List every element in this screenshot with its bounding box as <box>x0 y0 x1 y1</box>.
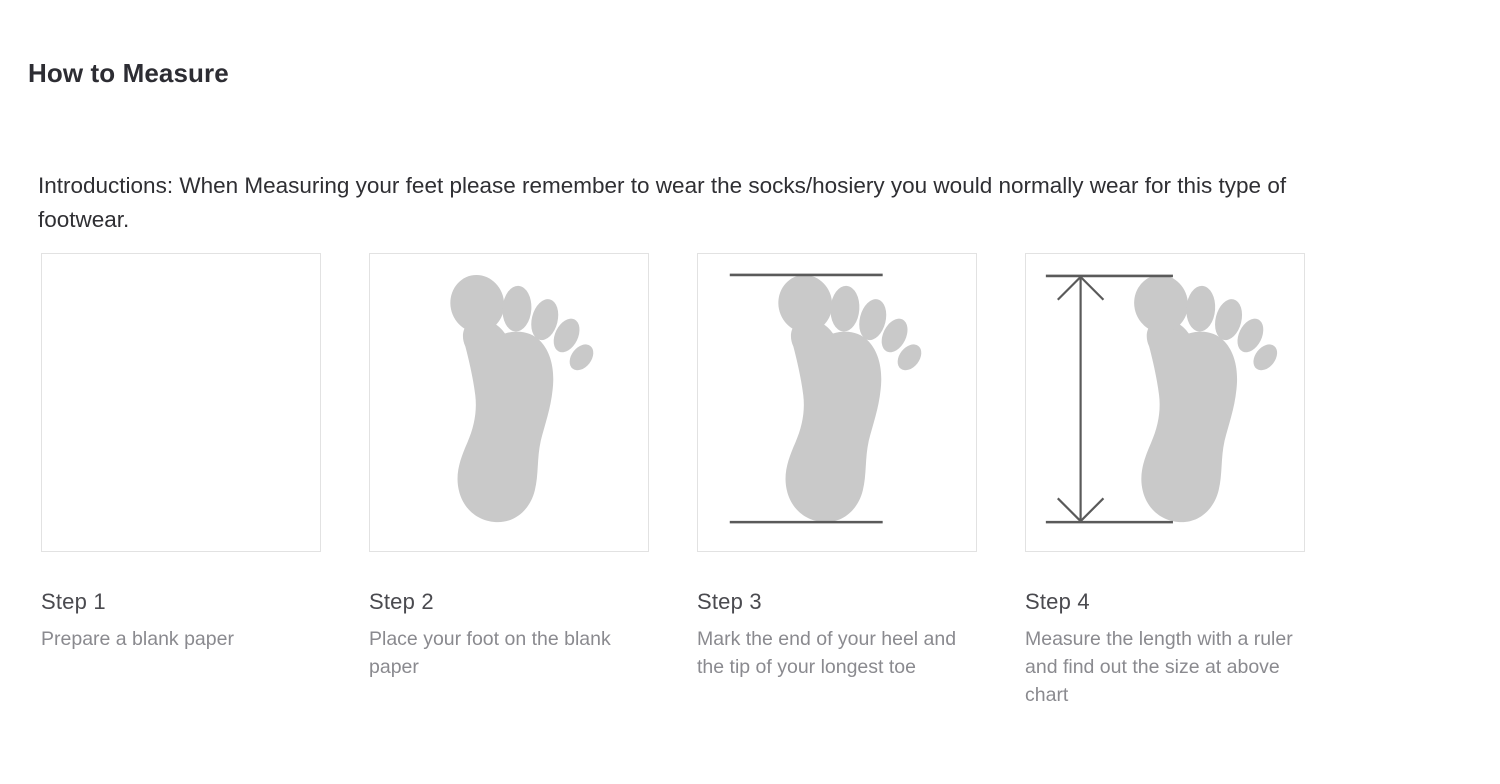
blank-paper-illustration <box>41 253 321 552</box>
footprint-with-mark-lines-icon <box>698 254 976 551</box>
step-caption-2: Place your foot on the blank paper <box>369 625 647 682</box>
step-label-1: Step 1 <box>41 588 321 616</box>
step-label-2: Step 2 <box>369 588 649 616</box>
how-to-measure-page: How to Measure Introductions: When Measu… <box>0 0 1500 784</box>
step-label-3: Step 3 <box>697 588 977 616</box>
steps-list: Step 1 Prepare a blank paper <box>41 253 1304 710</box>
step-caption-4: Measure the length with a ruler and find… <box>1025 625 1303 710</box>
blank-paper-icon <box>42 254 320 551</box>
step-caption-3: Mark the end of your heel and the tip of… <box>697 625 975 682</box>
foot-on-paper-illustration <box>369 253 649 552</box>
step-card-1: Step 1 Prepare a blank paper <box>41 253 321 710</box>
foot-measurement-illustration <box>1025 253 1305 552</box>
page-title: How to Measure <box>28 58 229 89</box>
step-card-4: Step 4 Measure the length with a ruler a… <box>1025 253 1305 710</box>
foot-with-marks-illustration <box>697 253 977 552</box>
introduction-text: Introductions: When Measuring your feet … <box>38 169 1328 237</box>
step-card-2: Step 2 Place your foot on the blank pape… <box>369 253 649 710</box>
step-caption-1: Prepare a blank paper <box>41 625 319 653</box>
step-card-3: Step 3 Mark the end of your heel and the… <box>697 253 977 710</box>
footprint-icon <box>370 254 648 551</box>
step-label-4: Step 4 <box>1025 588 1305 616</box>
footprint-with-measure-arrow-icon <box>1026 254 1304 551</box>
